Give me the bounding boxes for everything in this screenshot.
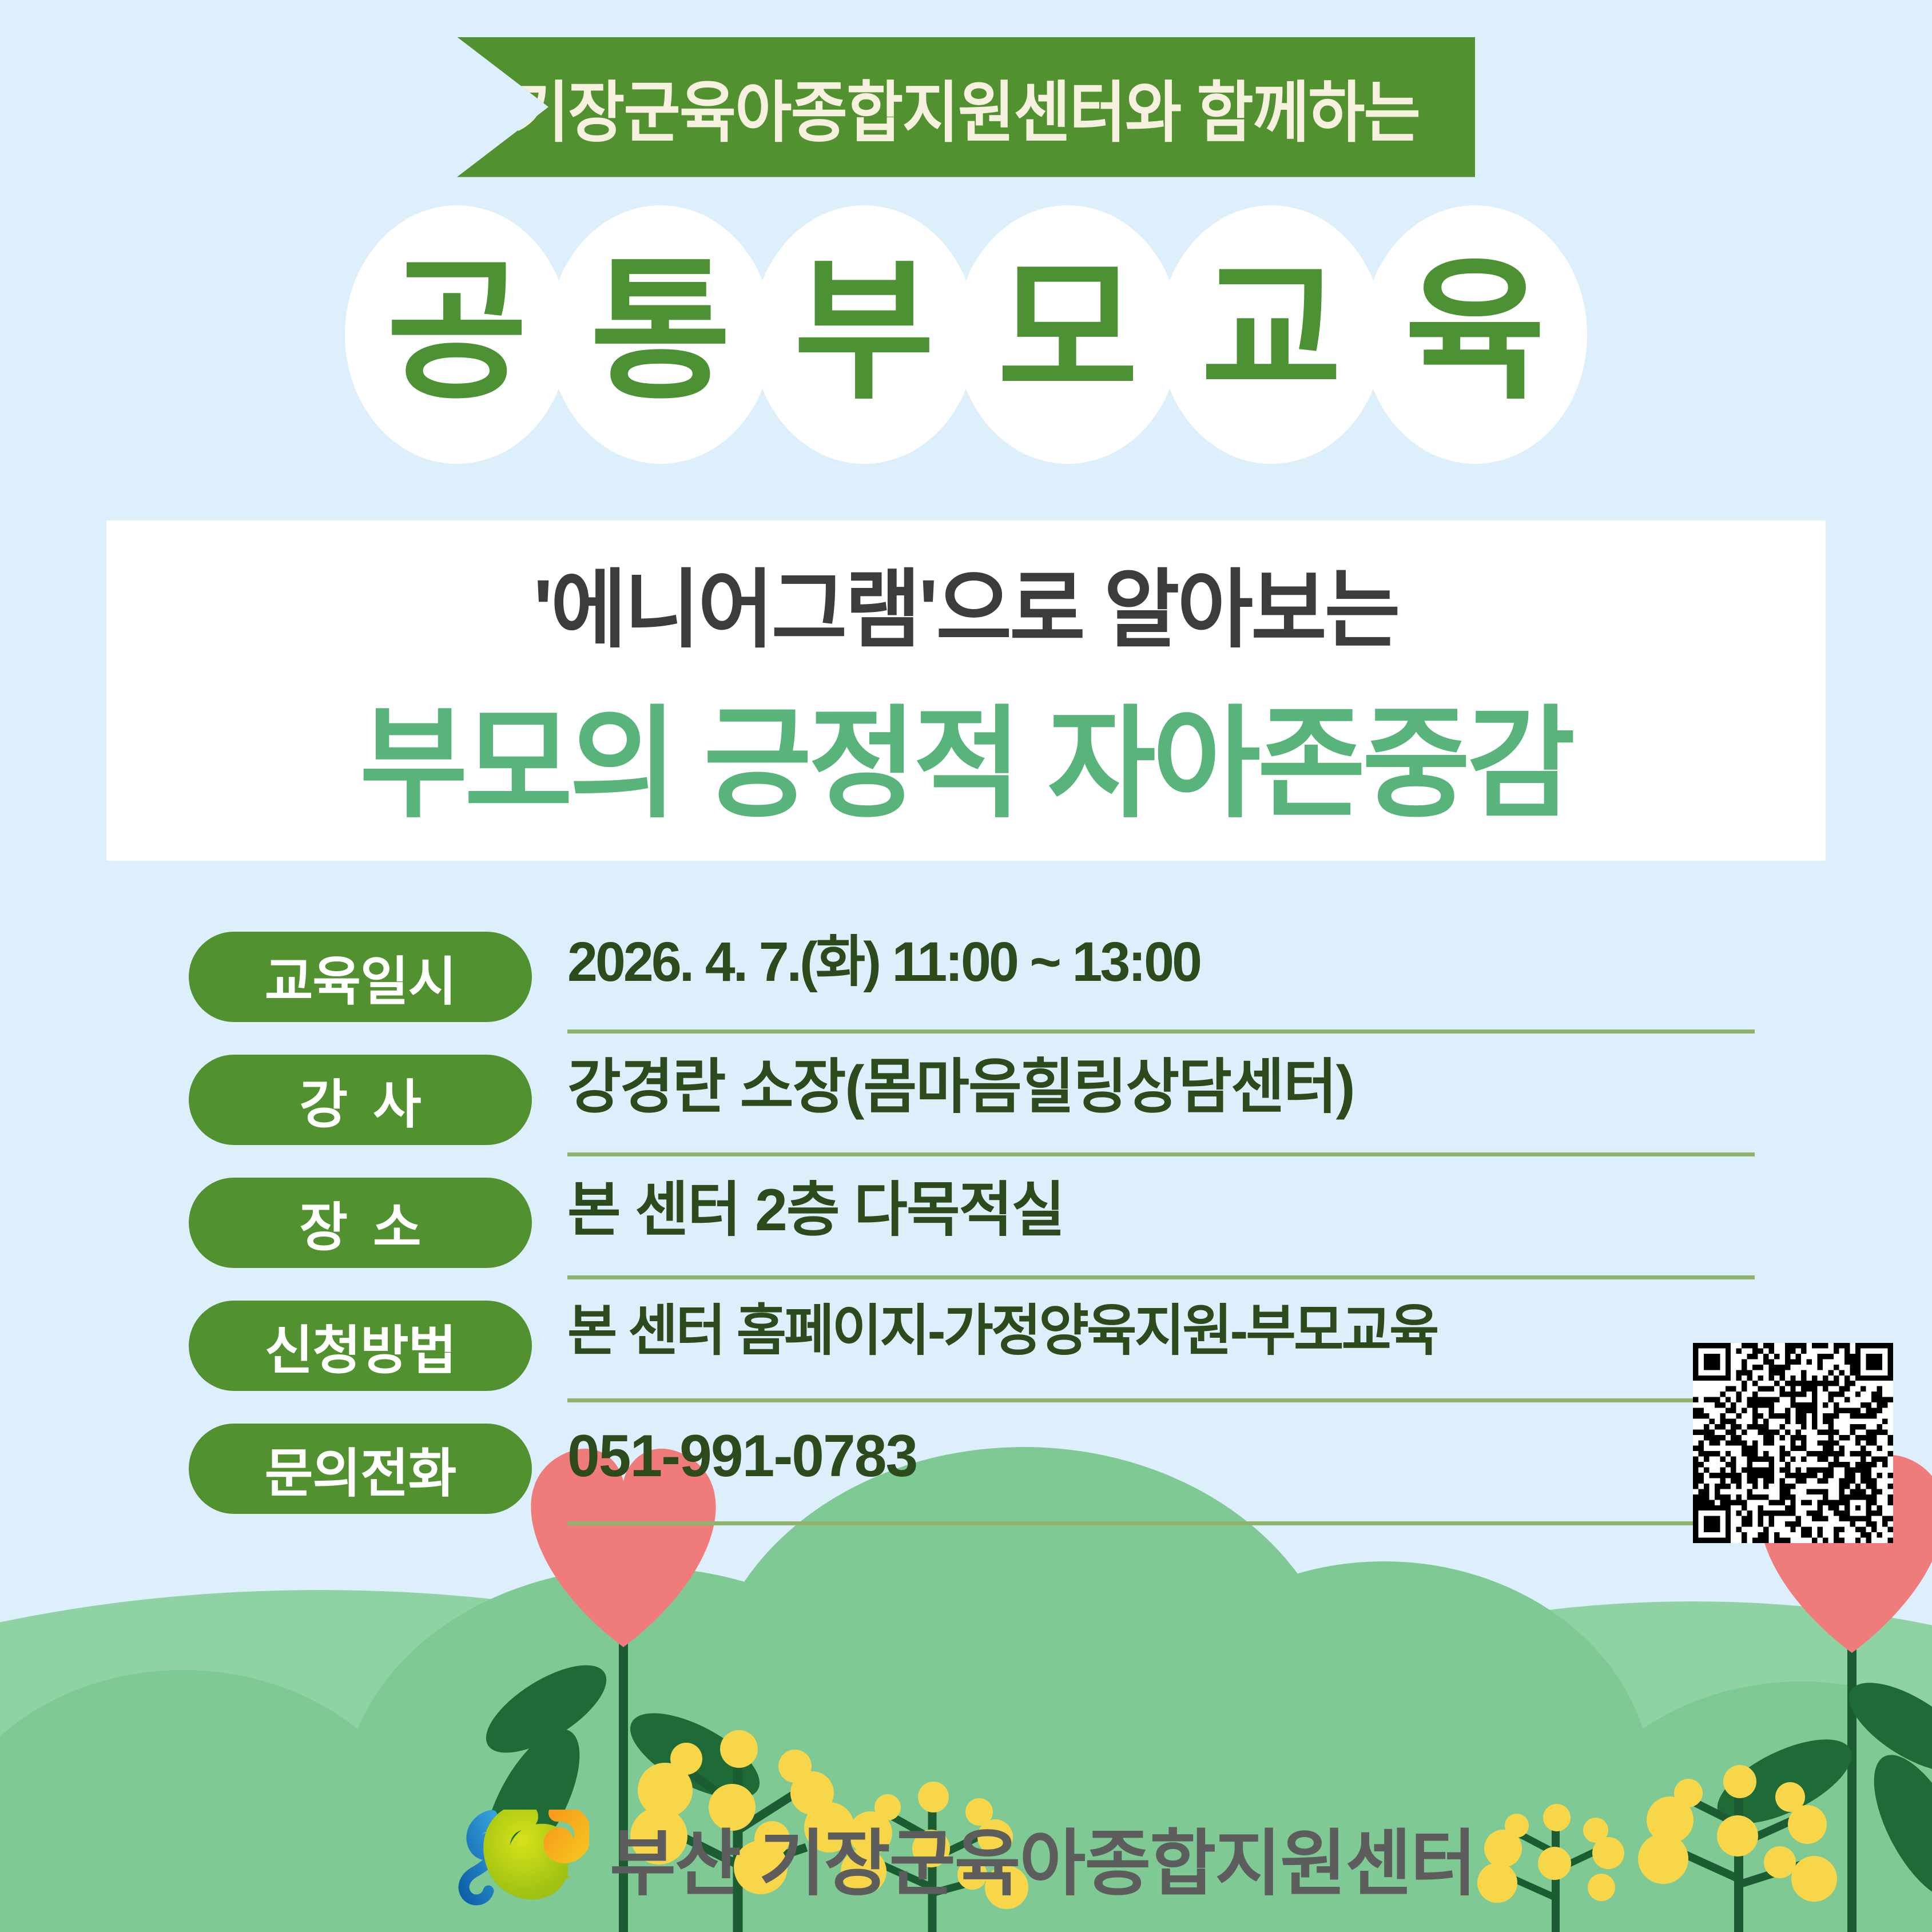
info-row: 신청방법본 센터 홈페이지-가정양육지원-부모교육 [189,1298,1733,1421]
main-title: 공통부모교육 [0,203,1932,466]
info-value-column: 051-991-0783 [567,1421,1733,1492]
title-char: 교 [1201,255,1342,408]
info-label-pill: 강사 [189,1055,532,1145]
info-row: 교육일시2026. 4. 7.(화) 11:00 ~ 13:00 [189,929,1733,1052]
center-logo-icon [456,1810,589,1906]
info-value: 본 센터 홈페이지-가정양육지원-부모교육 [567,1298,1710,1363]
info-row: 문의전화051-991-0783 [189,1421,1733,1544]
info-value: 051-991-0783 [567,1421,1710,1492]
poster-canvas: 기장군육아종합지원센터와 함께하는 공통부모교육 '에니어그램'으로 알아보는 … [0,0,1932,1932]
title-char-bubble: 공 [345,205,569,464]
title-char: 통 [590,255,732,408]
title-char-bubble: 육 [1363,205,1587,464]
title-char-bubble: 부 [752,205,976,464]
info-value: 본 센터 2층 다목적실 [567,1175,1710,1246]
title-char: 육 [1405,255,1546,408]
info-value: 강경란 소장(몸마음힐링상담센터) [567,1052,1710,1123]
title-char-bubble: 통 [548,205,773,464]
info-label-pill: 신청방법 [189,1301,532,1391]
header-ribbon: 기장군육아종합지원센터와 함께하는 [0,35,1932,178]
info-row-divider [567,1152,1755,1156]
title-char-bubble: 교 [1159,205,1384,464]
ribbon-text: 기장군육아종합지원센터와 함께하는 [512,59,1420,155]
info-label-pill: 장소 [189,1178,532,1268]
info-row-divider [567,1521,1755,1525]
subtitle-card: '에니어그램'으로 알아보는 부모의 긍정적 자아존중감 [106,520,1826,861]
info-label-pill: 교육일시 [189,932,532,1022]
registration-qr-code[interactable] [1693,1343,1893,1543]
info-label-pill: 문의전화 [189,1424,532,1514]
info-row-divider [567,1275,1755,1279]
title-char: 부 [794,255,935,408]
info-value-column: 본 센터 2층 다목적실 [567,1175,1733,1246]
info-row: 강사강경란 소장(몸마음힐링상담센터) [189,1052,1733,1175]
title-char: 모 [997,255,1139,408]
title-char-bubble: 모 [956,205,1180,464]
info-value-column: 2026. 4. 7.(화) 11:00 ~ 13:00 [567,929,1733,995]
info-value: 2026. 4. 7.(화) 11:00 ~ 13:00 [567,929,1710,995]
info-row-divider [567,1398,1755,1402]
footer-organization-name: 부산 기장군육아종합지원센터 [610,1806,1476,1910]
subtitle-line-2: 부모의 긍정적 자아존중감 [360,666,1572,841]
info-value-column: 강경란 소장(몸마음힐링상담센터) [567,1052,1733,1123]
subtitle-line-1: '에니어그램'으로 알아보는 [534,540,1398,665]
info-table: 교육일시2026. 4. 7.(화) 11:00 ~ 13:00강사강경란 소장… [189,929,1733,1544]
info-row-divider [567,1029,1755,1033]
footer-bar: 부산 기장군육아종합지원센터 [0,1800,1932,1915]
info-row: 장소본 센터 2층 다목적실 [189,1175,1733,1298]
title-char: 공 [387,255,528,408]
info-value-column: 본 센터 홈페이지-가정양육지원-부모교육 [567,1298,1733,1363]
